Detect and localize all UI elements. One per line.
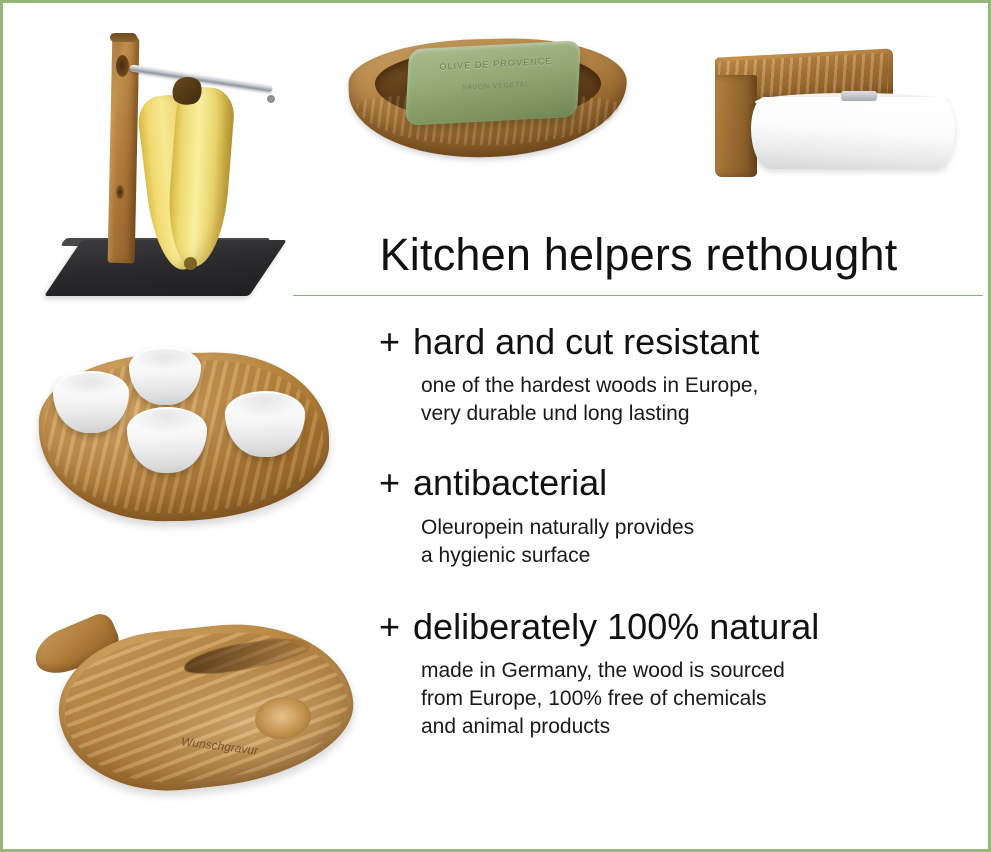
feature-heading: +deliberately 100% natural bbox=[379, 606, 979, 648]
plus-icon: + bbox=[379, 462, 400, 504]
product-image-soap-dish: OLIVE DE PROVENCE SAVON VEGETAL bbox=[349, 31, 627, 166]
page-title: Kitchen helpers rethought bbox=[291, 231, 986, 278]
post-top-cut bbox=[110, 33, 137, 42]
product-image-banana-holder bbox=[53, 25, 303, 310]
feature-heading: +antibacterial bbox=[379, 462, 979, 504]
wood-knot-icon bbox=[116, 55, 129, 77]
feature-title: antibacterial bbox=[413, 462, 607, 503]
product-image-cutting-board: Wunschgravur bbox=[33, 609, 353, 809]
white-paper-roll bbox=[751, 97, 955, 169]
product-image-roll-holder bbox=[715, 45, 963, 195]
feature-description: made in Germany, the wood is sourced fro… bbox=[421, 657, 979, 741]
porcelain-bowl-left-interior bbox=[61, 373, 121, 395]
feature-description-line: and animal products bbox=[421, 713, 979, 741]
feature-heading: +hard and cut resistant bbox=[379, 321, 979, 363]
feature-title: hard and cut resistant bbox=[413, 321, 759, 362]
feature-description-line: a hygienic surface bbox=[421, 542, 979, 570]
wood-knot-small-icon bbox=[116, 185, 124, 199]
porcelain-bowl-top-interior bbox=[136, 349, 194, 370]
feature-item-hard-and-cut-resistant: +hard and cut resistant one of the harde… bbox=[379, 321, 979, 428]
feature-description-line: from Europe, 100% free of chemicals bbox=[421, 685, 979, 713]
feature-list: +hard and cut resistant one of the harde… bbox=[379, 321, 979, 751]
rod-end-cap bbox=[267, 95, 275, 103]
feature-item-antibacterial: +antibacterial Oleuropein naturally prov… bbox=[379, 462, 979, 569]
feature-description: one of the hardest woods in Europe, very… bbox=[421, 372, 979, 428]
porcelain-bowl-center-interior bbox=[135, 409, 199, 432]
feature-title: deliberately 100% natural bbox=[413, 606, 819, 647]
porcelain-bowl-right-interior bbox=[233, 393, 297, 416]
feature-description-line: Oleuropein naturally provides bbox=[421, 514, 979, 542]
feature-description-line: made in Germany, the wood is sourced bbox=[421, 657, 979, 685]
metal-clip bbox=[841, 91, 877, 101]
feature-description-line: one of the hardest woods in Europe, bbox=[421, 372, 979, 400]
banana-tip bbox=[184, 257, 197, 270]
feature-description-line: very durable und long lasting bbox=[421, 400, 979, 428]
plus-icon: + bbox=[379, 321, 400, 363]
feature-item-deliberately-100-natural: +deliberately 100% natural made in Germa… bbox=[379, 606, 979, 741]
feature-description: Oleuropein naturally provides a hygienic… bbox=[421, 514, 979, 570]
product-infographic: OLIVE DE PROVENCE SAVON VEGETAL Wunschgr… bbox=[0, 0, 991, 852]
plus-icon: + bbox=[379, 606, 400, 648]
product-image-bowl-board bbox=[39, 337, 329, 547]
title-divider bbox=[293, 295, 983, 296]
